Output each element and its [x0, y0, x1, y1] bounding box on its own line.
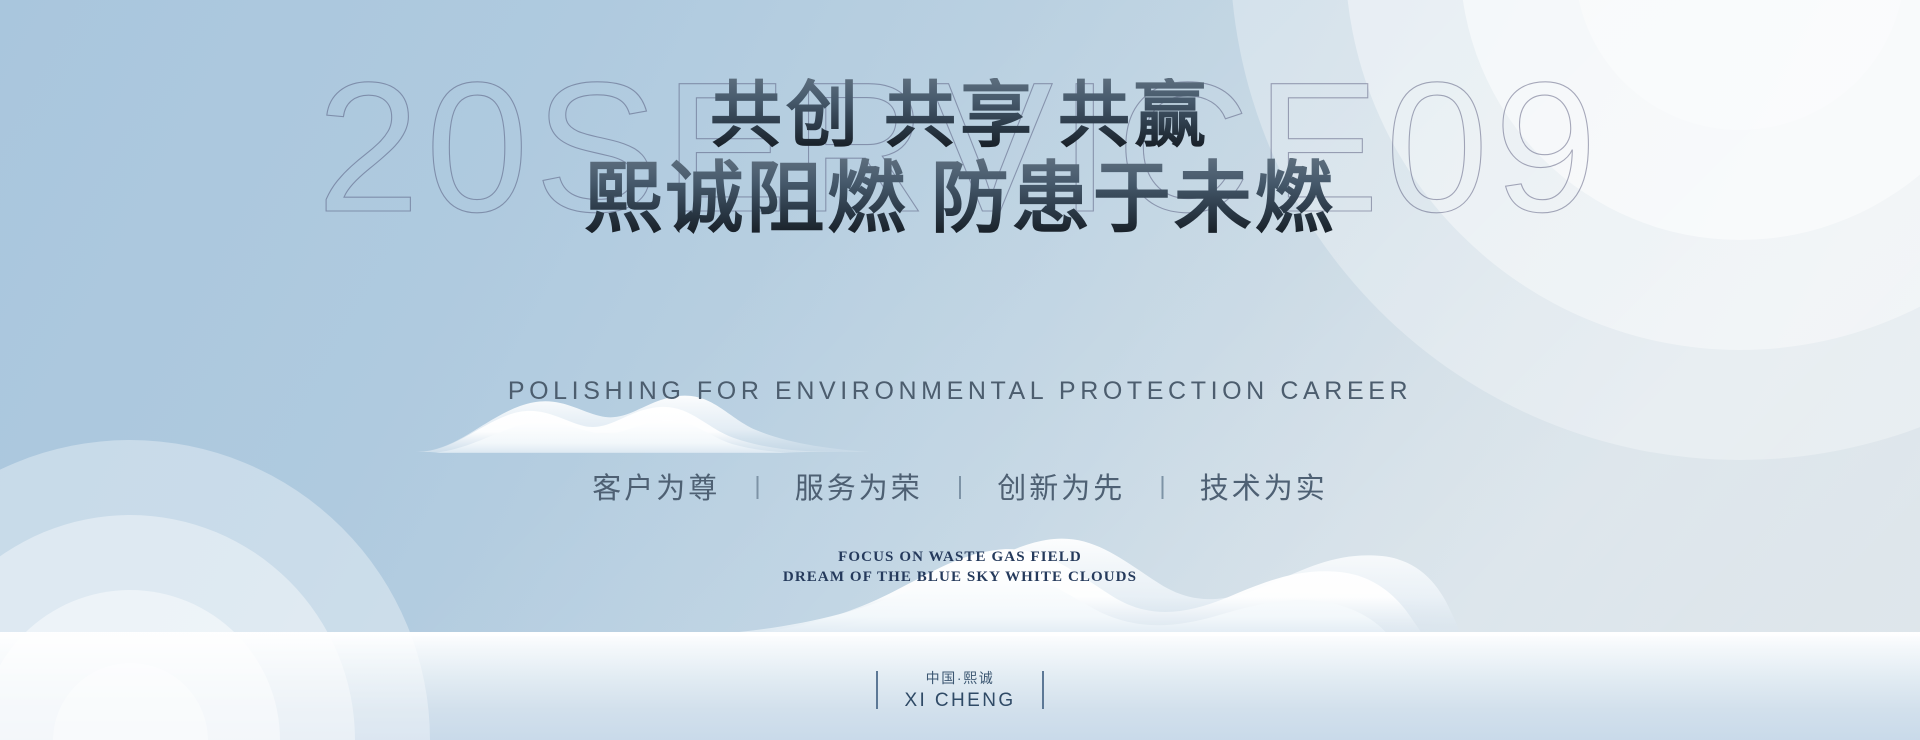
- brand-name-cn: 中国·熙诚: [904, 668, 1015, 689]
- brand-name-en: XI CHENG: [904, 689, 1015, 713]
- promotional-banner: 20SERVICE09 共创 共享 共赢 熙诚阻燃 防患于未燃: [0, 0, 1920, 740]
- core-value-1: 客户为尊: [558, 465, 754, 507]
- headline-line-primary: 共创 共享 共赢: [0, 78, 1920, 154]
- core-value-3: 创新为先: [963, 465, 1159, 507]
- english-tagline: POLISHING FOR ENVIRONMENTAL PROTECTION C…: [0, 377, 1920, 406]
- brand-text-group: 中国·熙诚 XI CHENG: [904, 668, 1015, 713]
- brand-lockup: 中国·熙诚 XI CHENG: [0, 668, 1920, 713]
- core-value-2: 服务为荣: [761, 465, 957, 507]
- core-value-4: 技术为实: [1166, 465, 1362, 507]
- brand-divider-right: [1042, 671, 1044, 709]
- brand-divider-left: [876, 671, 878, 709]
- headline-block: 共创 共享 共赢 熙诚阻燃 防患于未燃: [0, 78, 1920, 241]
- headline-line-secondary: 熙诚阻燃 防患于未燃: [0, 158, 1920, 241]
